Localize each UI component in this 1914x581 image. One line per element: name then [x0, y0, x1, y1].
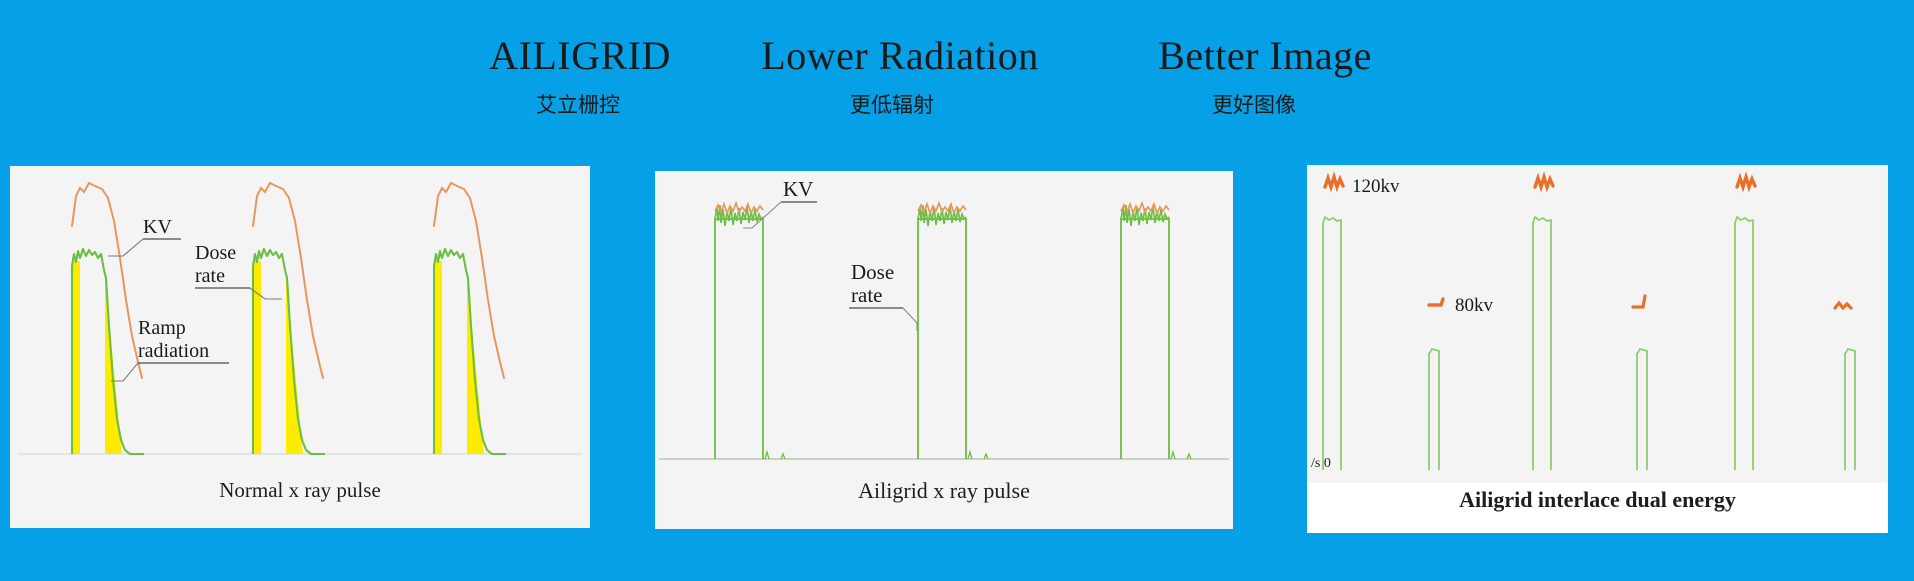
panel-caption-normal: Normal x ray pulse [10, 478, 590, 503]
dose-rate-square-1 [715, 219, 763, 459]
pulse-80kv-2 [1637, 349, 1647, 470]
pulse-square-2 [918, 203, 988, 459]
ramp-fill-rise-1 [72, 261, 80, 454]
annotation-ramp-radiation: Ramp radiation [111, 317, 229, 381]
header: AILIGRID 艾立栅控 Lower Radiation 更低辐射 Bette… [0, 0, 1914, 150]
pulse-80kv-3 [1845, 349, 1855, 470]
pulse-group-2 [253, 183, 325, 454]
legend-marker-80kv [1429, 299, 1443, 305]
header-group-better-image: Better Image 更好图像 [1075, 35, 1455, 119]
header-title-en-3: Better Image [1075, 35, 1455, 77]
baseline-ticks-2 [968, 452, 988, 459]
header-title-en-2: Lower Radiation [700, 35, 1100, 77]
annotation-ramp-leader [111, 363, 138, 381]
chart-ailigrid-x-ray-pulse: KV Dose rate [655, 171, 1233, 476]
kv-marker-icon-80 [1429, 299, 1443, 305]
pulse-group-1 [72, 183, 144, 454]
legend-label-80kv: 80kv [1455, 295, 1494, 316]
baseline-ticks-3 [1171, 452, 1191, 459]
annotation-kv: KV [743, 177, 817, 228]
baseline-ticks-1 [765, 452, 785, 459]
header-title-cn-3: 更好图像 [1053, 89, 1455, 119]
kv-marker-icon-120 [1325, 177, 1343, 187]
annotation-dose-rate: Dose rate [849, 260, 917, 331]
ramp-fill-rise-3 [434, 261, 442, 454]
annotation-dose-rate-leader [903, 308, 917, 331]
panel-ailigrid-x-ray-pulse: KV Dose rate Ailigrid x ray pulse [655, 171, 1233, 529]
axis-label-origin: /s 0 [1311, 456, 1331, 471]
pulse-120kv-3 [1735, 217, 1753, 470]
annotation-ramp-line1: Ramp [138, 317, 186, 339]
dose-rate-square-3 [1121, 219, 1169, 459]
annotation-kv-leader [108, 239, 143, 256]
pulse-square-3 [1121, 203, 1191, 459]
legend-marker-120kv [1325, 177, 1343, 187]
chart-normal-x-ray-pulse: KV Dose rate Ramp radiation [10, 166, 590, 476]
annotation-dose-rate-line1: Dose [195, 242, 236, 264]
pulse-square-1 [715, 203, 785, 459]
annotation-dose-rate-line1: Dose [851, 260, 894, 284]
kv-marker-icon-120-2 [1535, 177, 1553, 187]
legend-label-120kv: 120kv [1352, 176, 1400, 197]
ramp-fill-rise-2 [253, 261, 261, 454]
header-title-en-1: AILIGRID [430, 35, 730, 77]
annotation-kv-label: KV [783, 177, 813, 201]
annotation-ramp-line2: radiation [138, 340, 209, 362]
panel-caption-dual-energy: Ailigrid interlace dual energy [1307, 487, 1888, 513]
pulse-120kv-2 [1533, 217, 1551, 470]
annotation-dose-rate-line2: rate [195, 265, 225, 287]
panel-ailigrid-interlace-dual-energy: 120kv 80kv /s 0 Ailigrid interlace dual … [1307, 165, 1888, 533]
pulse-80kv-1 [1429, 349, 1439, 470]
chart-ailigrid-interlace-dual-energy: 120kv 80kv /s 0 [1307, 165, 1888, 485]
panel-caption-ailigrid: Ailigrid x ray pulse [655, 478, 1233, 504]
pulse-group-3 [434, 183, 506, 454]
kv-marker-icon-80-2 [1633, 296, 1645, 307]
annotation-dose-rate-line2: rate [851, 283, 882, 307]
pulse-120kv-1 [1323, 217, 1341, 470]
header-title-cn-2: 更低辐射 [684, 89, 1100, 119]
header-group-lower-radiation: Lower Radiation 更低辐射 [700, 35, 1100, 119]
kv-marker-icon-80-3 [1835, 303, 1851, 308]
dose-rate-square-2 [918, 219, 966, 459]
annotation-kv-label: KV [143, 216, 172, 238]
kv-marker-icon-120-3 [1737, 177, 1755, 187]
panel-normal-x-ray-pulse: KV Dose rate Ramp radiation Normal x ray… [10, 166, 590, 528]
